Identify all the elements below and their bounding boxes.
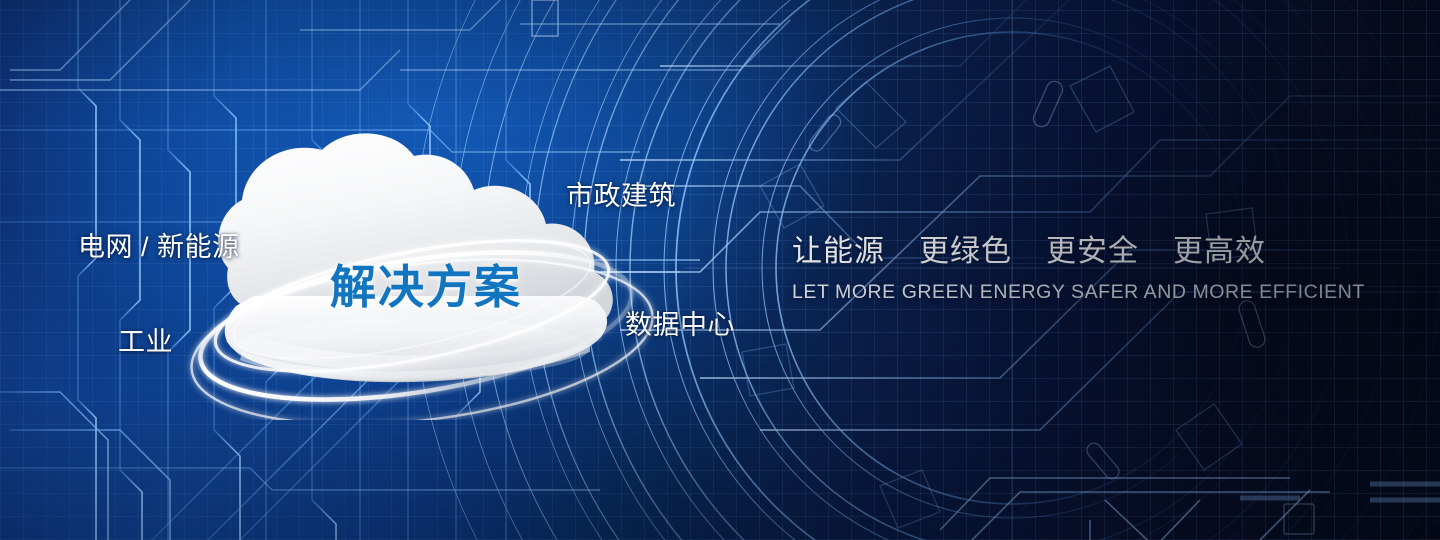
slogan-part-3: 更安全	[1046, 235, 1139, 268]
label-data-center: 数据中心	[625, 303, 735, 342]
slogan-part-1: 让能源	[792, 235, 885, 268]
slogan-block: 让能源更绿色更安全更高效 LET MORE GREEN ENERGY SAFER…	[792, 226, 1332, 304]
slogan-chinese: 让能源更绿色更安全更高效	[792, 226, 1332, 270]
page-title: 解决方案	[330, 251, 522, 317]
label-industry: 工业	[118, 320, 173, 359]
slogan-part-2: 更绿色	[919, 235, 1012, 268]
slogan-part-4: 更高效	[1173, 235, 1266, 268]
solution-banner: 解决方案 电网 / 新能源 工业 市政建筑 数据中心 让能源更绿色更安全更高效 …	[0, 0, 1440, 540]
slogan-english: LET MORE GREEN ENERGY SAFER AND MORE EFF…	[792, 281, 1332, 304]
label-municipal-building: 市政建筑	[566, 174, 676, 213]
label-power-grid: 电网 / 新能源	[78, 225, 240, 264]
